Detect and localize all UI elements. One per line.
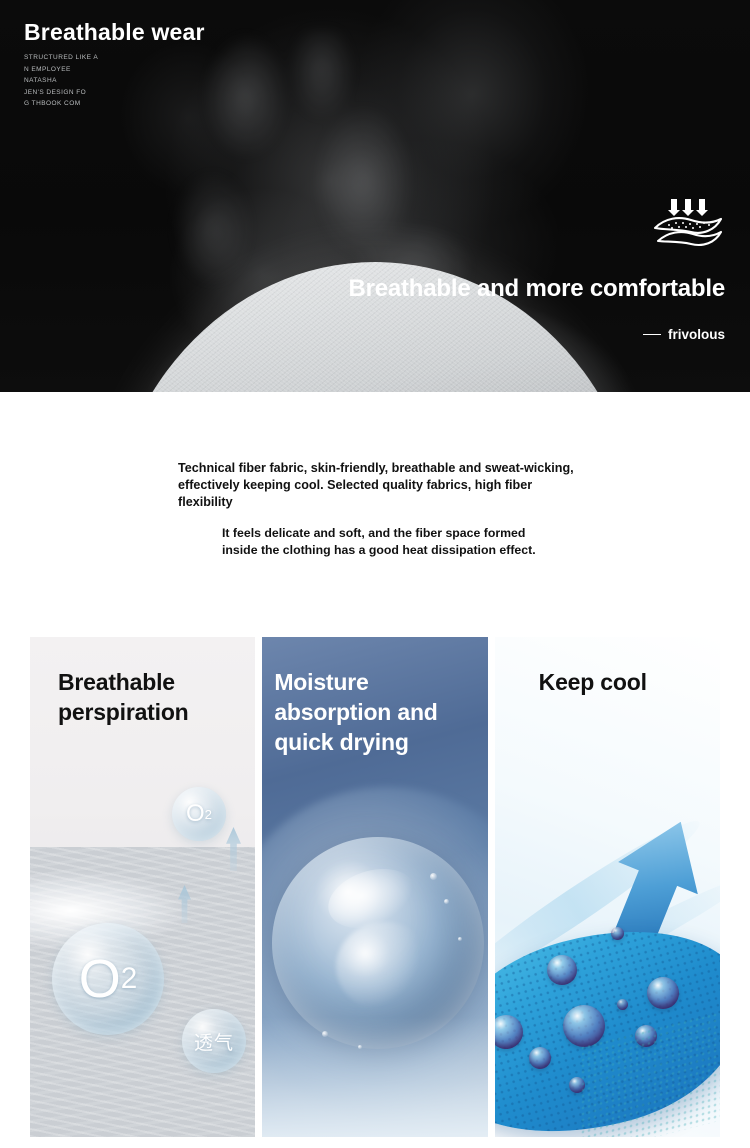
hero-meta-line: g thbook com — [24, 98, 98, 110]
bubble-sub: 2 — [121, 962, 138, 996]
signature-dash-icon — [643, 334, 661, 336]
signature-text: frivolous — [668, 327, 725, 342]
water-droplet-icon — [611, 927, 624, 940]
oxygen-bubble-large: O2 — [52, 923, 164, 1035]
bubble-label: O — [79, 948, 121, 1010]
hero-meta-line: n employee — [24, 64, 98, 76]
hero-meta-line: Structured like a — [24, 52, 98, 64]
panel-bottom-sheen — [262, 1017, 487, 1137]
bubble-sub: 2 — [205, 807, 212, 822]
product-detail-page: Breathable wear Structured like a n empl… — [0, 0, 750, 1148]
breathable-fabric-icon — [651, 196, 725, 248]
hero-meta-text: Structured like a n employee Natasha Jen… — [24, 52, 98, 110]
feature-panel-breathable[interactable]: Breathable perspiration O2 O2 透气 — [30, 637, 255, 1137]
water-droplet-icon — [647, 977, 679, 1009]
hero-meta-line: Natasha — [24, 75, 98, 87]
description-sub: It feels delicate and soft, and the fibe… — [222, 525, 552, 559]
hero-banner: Breathable wear Structured like a n empl… — [0, 0, 750, 392]
water-droplet-icon — [547, 955, 577, 985]
water-droplet-icon — [617, 999, 628, 1010]
hero-meta-line: Jen's design fo — [24, 87, 98, 99]
feature-panels: Breathable perspiration O2 O2 透气 Moistur… — [30, 637, 720, 1137]
panel-title: Moisture absorption and quick drying — [274, 667, 487, 757]
hero-headline: Breathable and more comfortable — [348, 275, 725, 303]
hero-signature: frivolous — [643, 327, 725, 342]
breathable-cn-bubble: 透气 — [182, 1009, 246, 1073]
feature-panel-moisture[interactable]: Moisture absorption and quick drying — [262, 637, 487, 1137]
oxygen-bubble-small: O2 — [172, 787, 226, 841]
hero-title: Breathable wear — [24, 19, 205, 46]
feature-panel-keep-cool[interactable]: Keep cool — [495, 637, 720, 1137]
water-droplet-icon — [529, 1047, 551, 1069]
bubble-label: O — [186, 800, 205, 828]
panel-title: Keep cool — [539, 667, 647, 697]
description-main: Technical fiber fabric, skin-friendly, b… — [178, 460, 578, 511]
panel-title: Breathable perspiration — [58, 667, 255, 727]
